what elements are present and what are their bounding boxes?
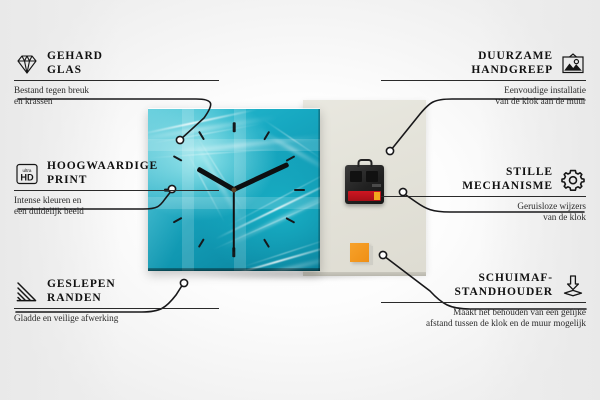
feature-title-line2: MECHANISME [462, 180, 553, 194]
feature-title-line1: GEHARD [47, 50, 103, 64]
feature-title-line1: STILLE [462, 166, 553, 180]
feature-title: HOOGWAARDIGE PRINT [47, 160, 158, 187]
feature-title-line2: GLAS [47, 64, 103, 78]
feature-title-line2: STANDHOUDER [454, 286, 553, 300]
feature-description: Gladde en veilige afwerking [14, 313, 219, 324]
infographic-canvas: GEHARD GLAS Bestand tegen breuk en krass… [0, 0, 600, 400]
feature-desc-line1: Gladde en veilige afwerking [14, 313, 219, 324]
feature-stille-mechanisme: STILLE MECHANISME Geruisloze wijzers van… [381, 166, 586, 223]
feature-description: Geruisloze wijzers van de klok [381, 201, 586, 223]
feature-title-line1: DUURZAME [471, 50, 553, 64]
feature-description: Maakt het behouden van een gelijke afsta… [381, 307, 586, 329]
feature-desc-line1: Maakt het behouden van een gelijke [381, 307, 586, 318]
feature-description: Eenvoudige installatie van de klok aan d… [381, 85, 586, 107]
beveled-edge-icon [14, 280, 40, 304]
feature-desc-line2: afstand tussen de klok en de muur mogeli… [381, 318, 586, 329]
feature-description: Intense kleuren en een duidelijk beeld [14, 195, 219, 217]
feature-desc-line2: van de klok aan de muur [381, 96, 586, 107]
ultra-hd-icon: ultra HD [14, 162, 40, 186]
feature-title-line1: SCHUIMAF- [454, 272, 553, 286]
feature-desc-line1: Eenvoudige installatie [381, 85, 586, 96]
feature-divider [381, 302, 586, 303]
feature-desc-line1: Geruisloze wijzers [381, 201, 586, 212]
feature-title-line1: GESLEPEN [47, 278, 116, 292]
feature-title: DUURZAME HANDGREEP [471, 50, 553, 77]
feature-title: SCHUIMAF- STANDHOUDER [454, 272, 553, 299]
feature-title-line2: RANDEN [47, 292, 116, 306]
spacer-arrow-icon [560, 274, 586, 298]
feature-hoogwaardige-print: ultra HD HOOGWAARDIGE PRINT Intense kleu… [14, 160, 219, 217]
feature-schuimafstandhouder: SCHUIMAF- STANDHOUDER Maakt het behouden… [381, 272, 586, 329]
feature-divider [14, 190, 219, 191]
feature-title-line2: HANDGREEP [471, 64, 553, 78]
feature-desc-line2: een duidelijk beeld [14, 206, 219, 217]
diamond-icon [14, 52, 40, 76]
wire-dot-handgreep [386, 147, 393, 154]
feature-title-line2: PRINT [47, 174, 158, 188]
feature-gehard-glas: GEHARD GLAS Bestand tegen breuk en krass… [14, 50, 219, 107]
feature-description: Bestand tegen breuk en krassen [14, 85, 219, 107]
feature-desc-line2: en krassen [14, 96, 219, 107]
ultra-hd-icon-bottom-label: HD [20, 172, 34, 182]
feature-geslepen-randen: GESLEPEN RANDEN Gladde en veilige afwerk… [14, 278, 219, 324]
feature-title: GEHARD GLAS [47, 50, 103, 77]
wire-dot-gehard-glas [176, 136, 183, 143]
feature-title-line1: HOOGWAARDIGE [47, 160, 158, 174]
gear-icon [560, 168, 586, 192]
feature-title: GESLEPEN RANDEN [47, 278, 116, 305]
feature-duurzame-handgreep: DUURZAME HANDGREEP Eenvoudige installati… [381, 50, 586, 107]
feature-divider [381, 196, 586, 197]
feature-title: STILLE MECHANISME [462, 166, 553, 193]
feature-desc-line2: van de klok [381, 212, 586, 223]
feature-divider [14, 80, 219, 81]
feature-desc-line1: Bestand tegen breuk [14, 85, 219, 96]
feature-divider [14, 308, 219, 309]
feature-desc-line1: Intense kleuren en [14, 195, 219, 206]
picture-frame-icon [560, 52, 586, 76]
wire-dot-spacer [379, 251, 386, 258]
feature-divider [381, 80, 586, 81]
